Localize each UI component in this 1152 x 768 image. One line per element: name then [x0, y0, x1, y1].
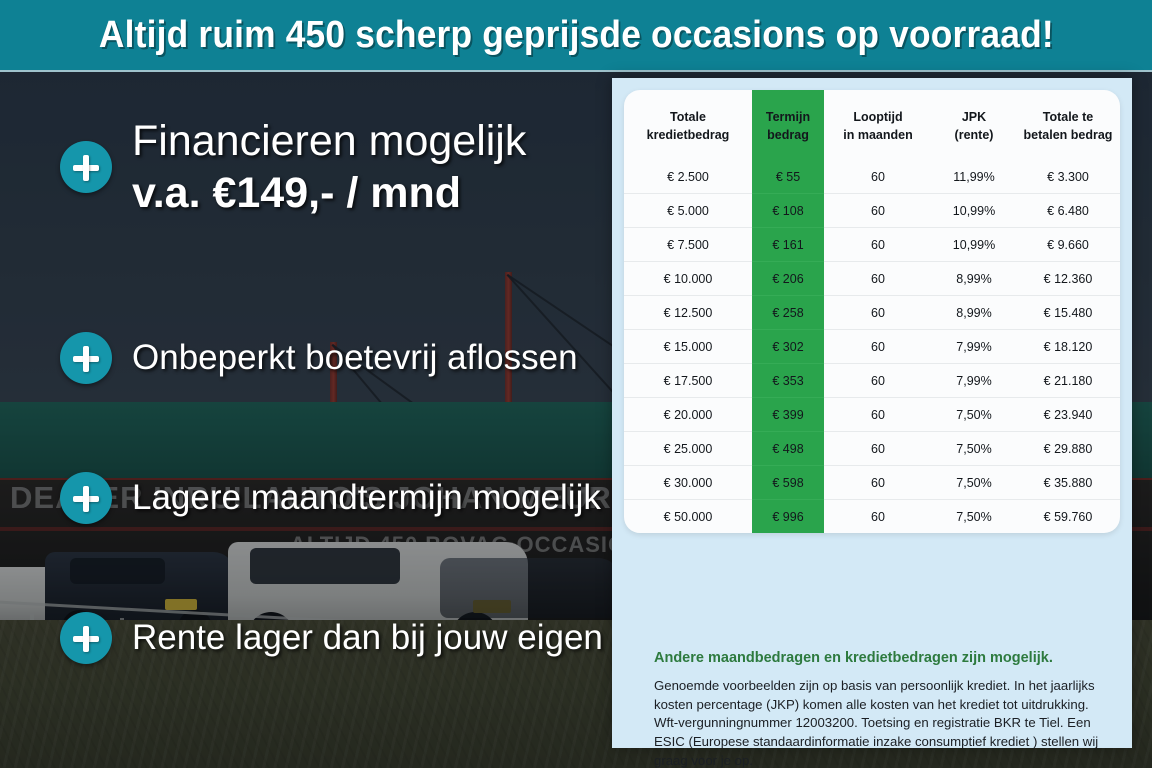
header-line-2: (rente): [955, 128, 994, 142]
table-row: € 25.000€ 498607,50%€ 29.880: [624, 432, 1120, 466]
column-header-monthly-amount: Termijn bedrag: [752, 90, 824, 160]
table-row: € 5.000€ 1086010,99%€ 6.480: [624, 194, 1120, 228]
table-cell: 7,99%: [932, 330, 1016, 364]
benefit-item-interest: Rente lager dan bij jouw eigen bank: [60, 612, 689, 664]
table-cell: € 25.000: [624, 432, 752, 466]
column-header-total-payable: Totale te betalen bedrag: [1016, 90, 1120, 160]
column-header-total-credit: Totale kredietbedrag: [624, 90, 752, 160]
column-header-duration: Looptijd in maanden: [824, 90, 932, 160]
table-cell: € 17.500: [624, 364, 752, 398]
table-cell: € 29.880: [1016, 432, 1120, 466]
table-cell: 60: [824, 466, 932, 500]
banner-headline: Altijd ruim 450 scherp geprijsde occasio…: [99, 14, 1054, 57]
rates-table: Totale kredietbedrag Termijn bedrag Loop…: [624, 90, 1120, 533]
header-line-2: kredietbedrag: [647, 128, 730, 142]
table-cell: € 50.000: [624, 500, 752, 534]
table-row: € 10.000€ 206608,99%€ 12.360: [624, 262, 1120, 296]
table-cell: € 59.760: [1016, 500, 1120, 534]
table-cell: 60: [824, 398, 932, 432]
table-cell: € 108: [752, 194, 824, 228]
table-cell: € 7.500: [624, 228, 752, 262]
table-cell: 10,99%: [932, 194, 1016, 228]
disclaimer-heading: Andere maandbedragen en kredietbedragen …: [654, 650, 1106, 666]
table-cell: 60: [824, 500, 932, 534]
table-cell: 11,99%: [932, 160, 1016, 194]
header-line-1: Totale: [670, 110, 706, 124]
table-row: € 17.500€ 353607,99%€ 21.180: [624, 364, 1120, 398]
header-line-2: bedrag: [767, 128, 809, 142]
table-cell: € 498: [752, 432, 824, 466]
table-cell: € 10.000: [624, 262, 752, 296]
table-row: € 2.500€ 556011,99%€ 3.300: [624, 160, 1120, 194]
table-cell: € 3.300: [1016, 160, 1120, 194]
benefits-list: Financieren mogelijk v.a. €149,- / mnd O…: [0, 72, 616, 768]
table-cell: € 598: [752, 466, 824, 500]
table-cell: € 206: [752, 262, 824, 296]
table-cell: € 55: [752, 160, 824, 194]
header-line-1: Looptijd: [853, 110, 902, 124]
table-cell: € 353: [752, 364, 824, 398]
table-cell: 7,50%: [932, 432, 1016, 466]
plus-icon: [60, 472, 112, 524]
table-cell: € 2.500: [624, 160, 752, 194]
table-cell: 60: [824, 364, 932, 398]
header-line-2: betalen bedrag: [1024, 128, 1113, 142]
header-line-1: JPK: [962, 110, 986, 124]
table-cell: 7,99%: [932, 364, 1016, 398]
benefit-item-monthly-term: Lagere maandtermijn mogelijk: [60, 472, 601, 524]
table-cell: € 258: [752, 296, 824, 330]
table-cell: 10,99%: [932, 228, 1016, 262]
table-row: € 30.000€ 598607,50%€ 35.880: [624, 466, 1120, 500]
table-cell: € 23.940: [1016, 398, 1120, 432]
table-cell: € 20.000: [624, 398, 752, 432]
table-cell: € 996: [752, 500, 824, 534]
plus-icon: [60, 332, 112, 384]
table-cell: 8,99%: [932, 296, 1016, 330]
table-cell: € 9.660: [1016, 228, 1120, 262]
table-cell: € 18.120: [1016, 330, 1120, 364]
benefit-item-repayment: Onbeperkt boetevrij aflossen: [60, 332, 578, 384]
header-line-1: Totale te: [1043, 110, 1093, 124]
benefit-label: Lagere maandtermijn mogelijk: [132, 478, 601, 517]
table-row: € 15.000€ 302607,99%€ 18.120: [624, 330, 1120, 364]
disclaimer-block: Andere maandbedragen en kredietbedragen …: [654, 650, 1106, 768]
plus-icon: [60, 612, 112, 664]
table-cell: € 161: [752, 228, 824, 262]
rates-table-body: € 2.500€ 556011,99%€ 3.300€ 5.000€ 10860…: [624, 160, 1120, 533]
table-cell: 7,50%: [932, 398, 1016, 432]
table-cell: € 35.880: [1016, 466, 1120, 500]
advertisement-banner: Altijd ruim 450 scherp geprijsde occasio…: [0, 0, 1152, 768]
table-cell: 60: [824, 432, 932, 466]
benefit-label: Financieren mogelijk: [132, 117, 526, 165]
table-cell: 7,50%: [932, 466, 1016, 500]
table-cell: 60: [824, 160, 932, 194]
disclaimer-text: Genoemde voorbeelden zijn op basis van p…: [654, 677, 1106, 768]
benefit-sublabel: v.a. €149,- / mnd: [132, 169, 526, 217]
table-cell: 7,50%: [932, 500, 1016, 534]
table-cell: € 399: [752, 398, 824, 432]
table-cell: € 15.480: [1016, 296, 1120, 330]
table-cell: € 12.500: [624, 296, 752, 330]
benefit-label: Rente lager dan bij jouw eigen bank: [132, 618, 689, 657]
benefit-item-financing: Financieren mogelijk v.a. €149,- / mnd: [60, 117, 526, 217]
table-cell: 60: [824, 262, 932, 296]
table-cell: € 30.000: [624, 466, 752, 500]
header-line-2: in maanden: [843, 128, 912, 142]
table-cell: 60: [824, 296, 932, 330]
table-cell: 60: [824, 330, 932, 364]
rates-panel: Totale kredietbedrag Termijn bedrag Loop…: [612, 78, 1132, 748]
benefit-label: Onbeperkt boetevrij aflossen: [132, 338, 578, 377]
table-row: € 50.000€ 996607,50%€ 59.760: [624, 500, 1120, 534]
table-row: € 12.500€ 258608,99%€ 15.480: [624, 296, 1120, 330]
column-header-jpk: JPK (rente): [932, 90, 1016, 160]
table-cell: 60: [824, 228, 932, 262]
plus-icon: [60, 141, 112, 193]
table-cell: € 15.000: [624, 330, 752, 364]
table-cell: € 302: [752, 330, 824, 364]
table-cell: 60: [824, 194, 932, 228]
header-line-1: Termijn: [766, 110, 810, 124]
table-cell: € 12.360: [1016, 262, 1120, 296]
table-row: € 20.000€ 399607,50%€ 23.940: [624, 398, 1120, 432]
table-header-row: Totale kredietbedrag Termijn bedrag Loop…: [624, 90, 1120, 160]
table-cell: € 5.000: [624, 194, 752, 228]
table-cell: € 21.180: [1016, 364, 1120, 398]
top-banner: Altijd ruim 450 scherp geprijsde occasio…: [0, 0, 1152, 72]
table-row: € 7.500€ 1616010,99%€ 9.660: [624, 228, 1120, 262]
table-cell: 8,99%: [932, 262, 1016, 296]
table-cell: € 6.480: [1016, 194, 1120, 228]
rates-card: Totale kredietbedrag Termijn bedrag Loop…: [624, 90, 1120, 533]
